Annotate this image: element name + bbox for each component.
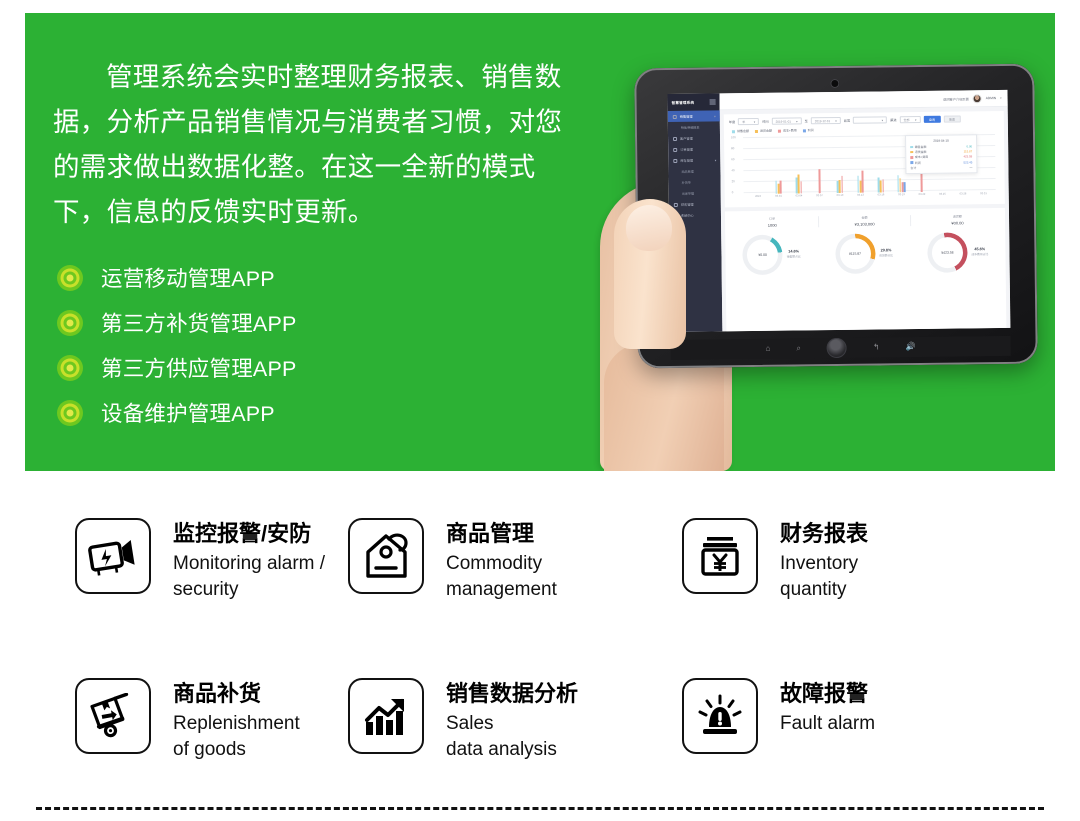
bar-group (871, 177, 892, 192)
kpi-value: 1000 (726, 222, 817, 228)
y-tick: 60 (731, 157, 734, 161)
bar (862, 171, 864, 193)
gauge-refund: ¥115.87 29.8% 退货额占比 (835, 233, 893, 274)
feature-subtitle: Inventory quantity (780, 551, 868, 603)
dashboard-main: 返回客户介绍页面 ADMIN ▾ 年度 年▾ 时间 (719, 90, 1010, 332)
feature-card-fault-alarm[interactable]: 故障报警 Fault alarm (672, 658, 1052, 818)
chevron-down-icon: ▾ (714, 114, 716, 118)
feature-card-commodity[interactable]: 商品管理 Commodity management (340, 498, 672, 658)
date-from-input[interactable]: 2019-01-01▾ (772, 117, 802, 124)
gauge-value: ¥0.00 (758, 252, 767, 256)
legend-label: 销售金额 (737, 129, 749, 133)
siren-alert-icon (682, 678, 758, 754)
feature-row-1: 监控报警/安防 Monitoring alarm / security 商品管理… (0, 498, 1080, 658)
kpi-amount: 金额 ¥3,103,000 (819, 215, 912, 227)
chevron-down-icon: ▾ (754, 119, 756, 123)
sidebar-item-sales-detail[interactable]: 销售明细报表 (668, 121, 720, 133)
x-tick: 03-16 (871, 193, 892, 201)
feature-card-finance[interactable]: 财务报表 Inventory quantity (672, 498, 1052, 658)
camera-alarm-icon (75, 518, 151, 594)
tooltip-footer-value: — (969, 165, 972, 169)
gauge-sales: ¥0.00 14.6% 销售额占比 (742, 234, 800, 275)
volume-icon[interactable]: 🔊 (906, 343, 916, 351)
user-icon (673, 136, 677, 140)
bar-group (891, 175, 912, 193)
gauge-value: ¥423.58 (941, 250, 953, 254)
tooltip-value: 423.58 (963, 155, 972, 159)
x-tick: 03-13 (850, 194, 871, 202)
list-item[interactable]: 第三方供应管理APP (57, 345, 527, 390)
bullet-label: 第三方补货管理APP (101, 307, 297, 338)
tooltip-row: 销售金额 0.00 (910, 144, 972, 149)
sidebar-item-label: 商品管理 (681, 169, 693, 174)
sidebar-item-customer[interactable]: 客户管理 (668, 132, 720, 144)
tablet-device: 智慧管理系统 销售管理 ▾ 销售明细报表 (634, 64, 1038, 369)
gauge-cost: ¥423.58 45.6% 成本费用占比 (927, 232, 988, 273)
x-axis: 201903-0103-0403-0703-1003-1303-1603-190… (748, 192, 994, 203)
front-camera-icon (830, 79, 839, 88)
kpi-label: 退货额 (911, 214, 1003, 219)
bar (800, 182, 802, 194)
tooltip-name: 利润 (915, 161, 921, 165)
calendar-icon: ▾ (835, 118, 837, 122)
x-tick: 03-04 (789, 194, 810, 202)
x-tick: 03-19 (891, 193, 912, 201)
sidebar-item-sales[interactable]: 销售管理 ▾ (668, 110, 720, 122)
legend-item: 退货金额 (755, 129, 772, 133)
bar (841, 176, 843, 193)
feature-row-2: 商品补货 Replenishment of goods 销 (0, 658, 1080, 818)
gauge-sublabel: 销售额占比 (787, 254, 801, 258)
filter-label-time: 时间 (762, 119, 768, 124)
feature-card-sales-analysis[interactable]: 销售数据分析 Sales data analysis (340, 658, 672, 818)
y-tick: 0 (732, 190, 734, 194)
legend-item: 利润 (803, 128, 814, 132)
feature-card-monitoring[interactable]: 监控报警/安防 Monitoring alarm / security (0, 498, 340, 658)
thumbnail (626, 205, 672, 251)
bar-group (768, 181, 789, 194)
list-item[interactable]: 运营移动管理APP (57, 255, 527, 300)
legend-label: 成本+费用 (783, 128, 797, 132)
tooltip-value: 523.45 (963, 160, 972, 164)
date-to-value: 2019-12-31 (815, 119, 830, 123)
user-name: ADMIN (986, 96, 996, 100)
tooltip-name: 成本+费用 (915, 155, 928, 159)
range-separator: 至 (805, 118, 808, 123)
tablet-navigation-bar: ⌂ ⌕ ↰ 🔊 (671, 336, 1011, 360)
filter-label-channel: 渠道 (890, 117, 896, 122)
filter-label-year: 年度 (729, 119, 735, 124)
chevron-down-icon: ▾ (715, 158, 717, 162)
y-tick: 40 (731, 168, 734, 172)
sidebar-item-label: 销售管理 (680, 114, 693, 119)
donut-chart: ¥115.87 (835, 233, 875, 273)
x-tick: 03-10 (830, 194, 851, 202)
price-tag-icon (348, 518, 424, 594)
chart-icon (673, 114, 677, 118)
hero-copy-block: 管理系统会实时整理财务报表、销售数据，分析产品销售情况与消费者习惯，对您的需求做… (53, 55, 583, 235)
bar-group (809, 169, 830, 194)
feature-title: 故障报警 (780, 680, 875, 708)
bullet-label: 运营移动管理APP (101, 262, 275, 293)
filter-label-category: 品类 (844, 118, 850, 123)
category-select[interactable]: ▾ (853, 116, 887, 123)
legend-label: 利润 (808, 128, 814, 132)
box-icon (673, 158, 677, 162)
kpi-orders: 订单 1000 (726, 216, 819, 228)
tooltip-footer-label: 合计 (910, 166, 916, 170)
sidebar-item-order[interactable]: 订单管理 (668, 143, 720, 155)
legend-item: 销售金额 (732, 129, 749, 133)
dashboard-brand: 智慧管理系统 (667, 93, 719, 111)
back-icon[interactable]: ↰ (873, 343, 880, 351)
legend-label: 退货金额 (760, 129, 772, 133)
bar (780, 181, 782, 194)
gauge-percent: 29.8% (879, 248, 893, 252)
sidebar-item-replenish[interactable]: 补货单 (669, 176, 721, 188)
sidebar-item-finance[interactable]: 财务管理 (669, 198, 721, 210)
divider (36, 807, 1044, 810)
kpi-label: 金额 (819, 215, 910, 220)
bullet-label: 第三方供应管理APP (101, 352, 297, 383)
feature-subtitle: Monitoring alarm / security (173, 551, 325, 603)
kpi-value: ¥00.00 (911, 219, 1003, 225)
feature-title: 财务报表 (780, 520, 868, 548)
sidebar-item-label: 销售明细报表 (681, 125, 700, 130)
chevron-down-icon: ▾ (882, 118, 884, 122)
tablet-photo: 智慧管理系统 销售管理 ▾ 销售明细报表 (580, 13, 1055, 471)
brand-label: 智慧管理系统 (672, 100, 695, 106)
wallet-icon (674, 202, 678, 206)
dashboard-chart-panel: 年度 年▾ 时间 2019-01-01▾ 至 2019-1 (724, 111, 1005, 207)
home-icon[interactable]: ⌂ (766, 345, 771, 353)
donut-chart: ¥423.58 (927, 232, 967, 272)
page-root: 管理系统会实时整理财务报表、销售数据，分析产品销售情况与消费者习惯，对您的需求做… (0, 0, 1080, 821)
sidebar-item-label: 客户管理 (680, 136, 693, 141)
sidebar-item-label: 订单管理 (680, 147, 693, 152)
legend-item: 成本+费用 (778, 128, 797, 132)
bar-chart: 100 80 60 40 20 0 201903-0103-0403-0703-… (729, 132, 1000, 203)
order-icon (673, 147, 677, 151)
feature-card-replenishment[interactable]: 商品补货 Replenishment of goods (0, 658, 340, 818)
feature-subtitle: Commodity management (446, 551, 557, 603)
bar (818, 169, 820, 193)
bar-group (830, 175, 851, 193)
gauge-row: ¥0.00 14.6% 销售额占比 ¥115.87 (725, 231, 1005, 274)
channel-value: 全部 (903, 118, 909, 122)
target-bullet-icon (57, 355, 83, 381)
chart-tooltip: 2019-04-10 销售金额 0.00 退货金额 115.87 (905, 134, 977, 174)
target-bullet-icon (57, 310, 83, 336)
list-item[interactable]: 第三方补货管理APP (57, 300, 527, 345)
bar (882, 180, 884, 193)
kpi-value: ¥3,103,000 (819, 221, 910, 227)
reset-button[interactable]: 重置 (943, 115, 960, 122)
bar-group (850, 171, 871, 193)
tooltip-value: 115.87 (964, 150, 973, 154)
x-tick: 03-28 (953, 192, 974, 200)
chevron-down-icon: ▾ (915, 118, 917, 122)
kpi-refund: 退货额 ¥00.00 (911, 214, 1004, 226)
x-tick: 03-22 (912, 193, 933, 201)
sidebar-item-goods[interactable]: 商品管理 (668, 165, 720, 177)
feature-subtitle: Fault alarm (780, 711, 875, 737)
feature-title: 销售数据分析 (446, 680, 578, 708)
gauge-percent: 14.6% (787, 249, 801, 253)
sidebar-item-label: 财务管理 (681, 202, 694, 207)
menu-collapse-icon[interactable] (710, 99, 716, 104)
target-bullet-icon (57, 400, 83, 426)
tooltip-row: 利润 523.45 (910, 160, 972, 165)
gauge-sublabel: 退货额占比 (879, 253, 893, 257)
bar-group (788, 175, 809, 194)
tooltip-name: 退货金额 (915, 150, 927, 154)
date-from-value: 2019-01-01 (776, 119, 791, 123)
kpi-summary-row: 订单 1000 金额 ¥3,103,000 退货额 ¥00.00 (725, 214, 1005, 228)
y-tick: 20 (732, 179, 735, 183)
x-tick: 03-31 (973, 192, 994, 200)
help-link[interactable]: 返回客户介绍页面 (943, 96, 969, 101)
feature-grid: 监控报警/安防 Monitoring alarm / security 商品管理… (0, 498, 1080, 818)
avatar[interactable] (973, 94, 982, 103)
tooltip-row: 退货金额 115.87 (910, 150, 972, 155)
tooltip-name: 销售金额 (915, 145, 927, 149)
gauge-percent: 45.6% (971, 247, 988, 251)
donut-chart: ¥0.00 (742, 234, 782, 274)
tooltip-value: 0.00 (966, 144, 972, 148)
kpi-panel: 订单 1000 金额 ¥3,103,000 退货额 ¥00.00 (725, 208, 1006, 331)
tablet-screen: 智慧管理系统 销售管理 ▾ 销售明细报表 (667, 90, 1010, 332)
bar (904, 182, 906, 192)
sidebar-item-label: 出库单据 (682, 191, 694, 196)
gauge-sublabel: 成本费用占比 (971, 252, 988, 256)
x-tick: 03-07 (809, 194, 830, 202)
y-tick: 80 (731, 146, 734, 150)
y-tick: 100 (731, 135, 736, 139)
hand-truck-box-icon (75, 678, 151, 754)
feature-title: 监控报警/安防 (173, 520, 325, 548)
bar-chart-arrow-icon (348, 678, 424, 754)
sidebar-item-label: 补货单 (682, 180, 691, 185)
x-tick: 03-25 (932, 193, 953, 201)
channel-select[interactable]: 全部▾ (899, 116, 920, 123)
gauge-value: ¥115.87 (849, 251, 861, 255)
year-select[interactable]: 年▾ (738, 118, 759, 125)
list-item[interactable]: 设备维护管理APP (57, 390, 527, 435)
camera-home-button[interactable] (827, 338, 847, 358)
hero-paragraph: 管理系统会实时整理财务报表、销售数据，分析产品销售情况与消费者习惯，对您的需求做… (53, 55, 583, 235)
date-to-input[interactable]: 2019-12-31▾ (811, 117, 841, 124)
sidebar-item-outbound[interactable]: 出库单据 (669, 187, 721, 199)
sidebar-item-label: 库存管理 (680, 158, 693, 163)
sidebar-item-inventory[interactable]: 库存管理 ▾ (668, 154, 720, 166)
feature-title: 商品管理 (446, 520, 557, 548)
filter-bar: 年度 年▾ 时间 2019-01-01▾ 至 2019-1 (729, 115, 999, 125)
target-bullet-icon (57, 265, 83, 291)
money-box-yen-icon (682, 518, 758, 594)
feature-title: 商品补货 (173, 680, 300, 708)
x-tick: 03-01 (768, 195, 789, 203)
tooltip-row: 成本+费用 423.58 (910, 155, 972, 160)
bullet-label: 设备维护管理APP (101, 397, 275, 428)
search-icon[interactable]: ⌕ (796, 344, 801, 352)
sidebar-item-label: 系统中心 (681, 213, 694, 218)
search-button[interactable]: 查询 (923, 116, 940, 123)
chevron-down-icon[interactable]: ▾ (1000, 96, 1002, 100)
x-tick: 2019 (748, 195, 769, 203)
kpi-label: 订单 (726, 216, 817, 221)
calendar-icon: ▾ (796, 119, 798, 123)
hero-panel: 管理系统会实时整理财务报表、销售数据，分析产品销售情况与消费者习惯，对您的需求做… (25, 13, 1055, 471)
feature-subtitle: Sales data analysis (446, 711, 578, 763)
tooltip-title: 2019-04-10 (910, 138, 972, 143)
tooltip-footer: 合计 — (910, 165, 972, 170)
year-value: 年 (742, 120, 745, 124)
hero-bullet-list: 运营移动管理APP 第三方补货管理APP 第三方供应管理APP 设备维护管理AP… (57, 255, 527, 435)
feature-subtitle: Replenishment of goods (173, 711, 300, 763)
dashboard-header: 返回客户介绍页面 ADMIN ▾ (719, 90, 1007, 111)
